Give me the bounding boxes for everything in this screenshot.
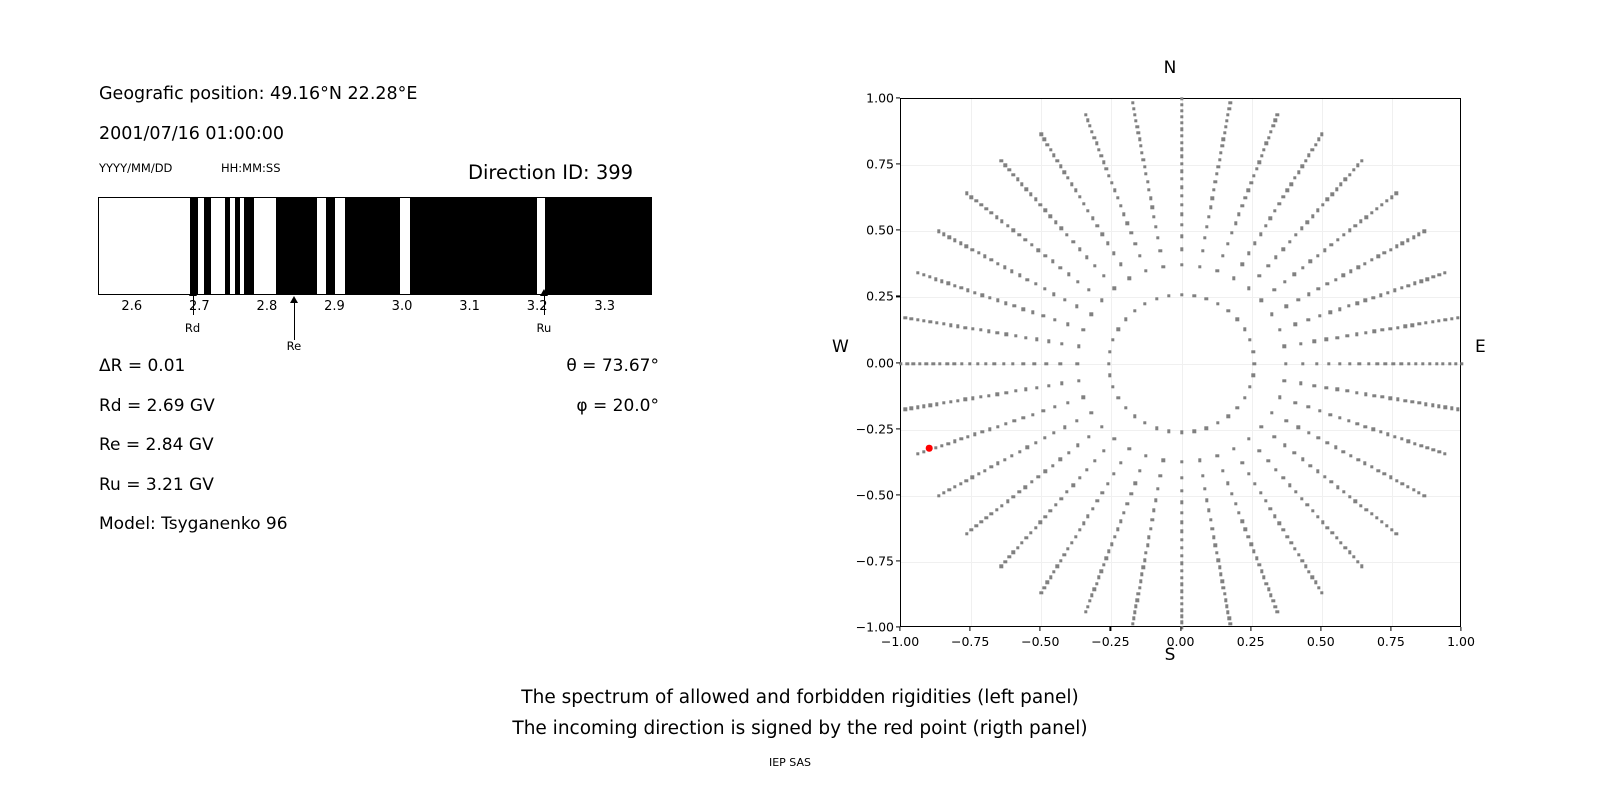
direction-point — [1180, 489, 1183, 492]
direction-point — [1334, 278, 1337, 281]
direction-point — [1297, 553, 1300, 556]
direction-point — [1003, 458, 1006, 461]
direction-point — [1356, 560, 1359, 563]
direction-point — [916, 271, 919, 274]
direction-point — [1301, 362, 1304, 365]
direction-point — [1180, 141, 1183, 144]
forbidden-band — [545, 198, 652, 294]
direction-point — [929, 404, 932, 407]
direction-point — [1078, 528, 1081, 531]
direction-point — [953, 485, 956, 488]
marker-label: Ru — [537, 321, 552, 335]
direction-point — [1269, 216, 1272, 219]
direction-point — [1347, 419, 1350, 422]
direction-point — [1230, 231, 1233, 234]
direction-point — [1107, 174, 1110, 177]
direction-point — [996, 331, 999, 334]
direction-point — [1241, 519, 1244, 522]
direction-point — [1180, 223, 1183, 226]
direction-point — [1314, 143, 1317, 146]
direction-point — [1389, 397, 1392, 400]
direction-point — [1352, 555, 1355, 558]
forbidden-band — [204, 198, 211, 294]
rigidity-spectrum-bar — [98, 197, 652, 295]
direction-point — [1110, 181, 1113, 184]
direction-point — [1423, 230, 1426, 233]
y-axis-tick-mark — [896, 494, 900, 495]
direction-point — [1037, 248, 1040, 251]
direction-point — [1293, 547, 1296, 550]
direction-point — [1407, 362, 1410, 365]
direction-point — [1003, 164, 1006, 167]
direction-point — [1052, 570, 1055, 573]
direction-point — [1281, 248, 1284, 251]
direction-point — [1144, 454, 1147, 457]
direction-point — [1012, 551, 1015, 554]
direction-point — [916, 452, 919, 455]
direction-point — [1180, 562, 1183, 565]
direction-point — [1067, 451, 1070, 454]
direction-point — [1180, 213, 1183, 216]
direction-point — [960, 286, 963, 289]
direction-point — [1209, 205, 1212, 208]
direction-point — [928, 275, 931, 278]
direction-point — [1309, 464, 1312, 467]
direction-point — [1376, 255, 1379, 258]
direction-point — [1119, 519, 1122, 522]
direction-point — [1274, 468, 1277, 471]
direction-point — [1400, 286, 1403, 289]
direction-point — [983, 255, 986, 258]
direction-point — [1383, 472, 1386, 475]
direction-point — [1078, 195, 1081, 198]
direction-point — [1325, 386, 1328, 389]
direction-point — [1432, 448, 1435, 451]
direction-point — [937, 230, 940, 233]
direction-point — [1390, 528, 1393, 531]
direction-point — [1116, 196, 1119, 199]
direction-point — [1354, 499, 1357, 502]
direction-point — [1065, 233, 1068, 236]
direction-point — [1102, 161, 1105, 164]
direction-point — [1255, 556, 1258, 559]
direction-point — [956, 325, 959, 328]
direction-point — [1267, 136, 1270, 139]
direction-point — [1137, 131, 1140, 134]
direction-point — [1155, 426, 1158, 429]
direction-point — [1232, 277, 1235, 280]
direction-point — [1113, 437, 1116, 440]
direction-point — [1180, 476, 1183, 479]
direction-point — [1363, 262, 1366, 265]
direction-point — [1217, 559, 1220, 562]
direction-point — [1010, 454, 1013, 457]
direction-point — [1211, 197, 1214, 200]
direction-point — [1217, 165, 1220, 168]
rigidity-tick-label: 2.6 — [121, 299, 142, 314]
direction-point — [973, 433, 976, 436]
direction-point — [1003, 266, 1006, 269]
direction-point — [971, 397, 974, 400]
direction-point — [1286, 189, 1289, 192]
direction-point — [932, 362, 935, 365]
direction-point — [1348, 362, 1351, 365]
direction-point — [946, 442, 949, 445]
direction-point — [1288, 483, 1291, 486]
direction-point — [1348, 495, 1351, 498]
direction-point — [1311, 509, 1314, 512]
direction-point — [1229, 101, 1232, 104]
direction-point — [1250, 543, 1253, 546]
direction-point — [1203, 236, 1206, 239]
direction-point — [970, 196, 973, 199]
direction-point — [973, 291, 976, 294]
direction-point — [1380, 520, 1383, 523]
direction-point — [1138, 138, 1141, 141]
direction-point — [1385, 199, 1388, 202]
direction-point — [1004, 301, 1007, 304]
direction-point — [1267, 588, 1270, 591]
direction-point — [1299, 382, 1302, 385]
direction-point — [1307, 318, 1310, 321]
param-phi: φ = 20.0° — [576, 396, 659, 416]
direction-point — [1180, 121, 1183, 124]
direction-point — [1247, 437, 1250, 440]
direction-point — [1022, 362, 1025, 365]
direction-point — [1005, 391, 1008, 394]
direction-point — [1152, 509, 1155, 512]
direction-point — [1034, 441, 1037, 444]
direction-point — [912, 362, 915, 365]
direction-point — [1356, 266, 1359, 269]
direction-point — [1066, 323, 1069, 326]
direction-point — [984, 362, 987, 365]
direction-point — [999, 564, 1002, 567]
direction-point — [1180, 169, 1183, 172]
direction-point — [1294, 401, 1297, 404]
direction-point — [963, 398, 966, 401]
direction-point — [1300, 227, 1303, 230]
direction-point — [1460, 362, 1463, 365]
direction-point — [1290, 541, 1293, 544]
direction-point — [1301, 559, 1304, 562]
direction-point — [1082, 395, 1085, 398]
direction-point — [1129, 492, 1132, 495]
compass-north-label: N — [1164, 58, 1177, 78]
direction-point — [1054, 220, 1057, 223]
direction-point — [1443, 271, 1446, 274]
direction-point — [1309, 260, 1312, 263]
direction-point — [1162, 459, 1165, 462]
forbidden-band — [276, 198, 317, 294]
param-model: Model: Tsyganenko 96 — [99, 514, 288, 534]
direction-point — [1209, 518, 1212, 521]
direction-point — [1370, 465, 1373, 468]
direction-point — [1293, 451, 1296, 454]
direction-point — [1223, 131, 1226, 134]
direction-point — [1247, 535, 1250, 538]
direction-point — [1396, 398, 1399, 401]
gridline-horizontal — [901, 231, 1460, 232]
direction-point — [1198, 265, 1201, 268]
direction-point — [1257, 563, 1260, 566]
direction-point — [1014, 389, 1017, 392]
direction-point — [1431, 404, 1434, 407]
direction-point — [1052, 292, 1055, 295]
direction-point — [1066, 401, 1069, 404]
direction-point — [1060, 227, 1063, 230]
direction-point — [1401, 482, 1404, 485]
direction-point — [1180, 615, 1183, 618]
direction-point — [904, 316, 907, 319]
direction-point — [971, 476, 974, 479]
direction-point — [1260, 425, 1263, 428]
direction-point — [1147, 188, 1150, 191]
direction-point — [971, 327, 974, 330]
direction-point — [1336, 485, 1339, 488]
direction-point — [984, 516, 987, 519]
direction-point — [1133, 113, 1136, 116]
direction-point — [1138, 469, 1141, 472]
direction-point — [1307, 570, 1310, 573]
direction-point — [1224, 599, 1227, 602]
direction-point — [1227, 107, 1230, 110]
direction-point — [996, 392, 999, 395]
direction-point — [1180, 530, 1183, 533]
direction-point — [1384, 362, 1387, 365]
direction-point — [1010, 270, 1013, 273]
direction-point — [1004, 422, 1007, 425]
rigidity-tick-label: 2.8 — [257, 299, 278, 314]
direction-point — [1293, 273, 1296, 276]
direction-point — [1192, 294, 1195, 297]
direction-point — [1253, 362, 1256, 365]
direction-point — [910, 407, 913, 410]
direction-point — [1180, 583, 1183, 586]
direction-point — [904, 408, 907, 411]
direction-point — [1143, 302, 1146, 305]
direction-point — [1274, 255, 1277, 258]
direction-point — [1102, 274, 1105, 277]
direction-point — [977, 251, 980, 254]
x-axis-tick-mark — [1320, 627, 1321, 631]
direction-point — [1041, 314, 1044, 317]
direction-point — [1346, 334, 1349, 337]
direction-point — [1338, 307, 1341, 310]
forbidden-band — [190, 198, 198, 294]
direction-point — [1159, 474, 1162, 477]
direction-point — [1043, 138, 1046, 141]
y-axis-tick-mark — [896, 560, 900, 561]
direction-point — [1059, 458, 1062, 461]
direction-point — [1371, 296, 1374, 299]
direction-point — [990, 258, 993, 261]
direction-point — [1370, 211, 1373, 214]
direction-point — [1086, 119, 1089, 122]
direction-point — [1224, 125, 1227, 128]
direction-point — [1180, 596, 1183, 599]
direction-point — [1294, 323, 1297, 326]
direction-point — [1132, 107, 1135, 110]
direction-point — [1180, 576, 1183, 579]
direction-point — [1232, 447, 1235, 450]
direction-point — [1219, 573, 1222, 576]
direction-point — [942, 322, 945, 325]
direction-point — [1236, 318, 1239, 321]
direction-point — [1151, 205, 1154, 208]
direction-point — [1076, 444, 1079, 447]
direction-point — [1313, 340, 1316, 343]
direction-point — [987, 394, 990, 397]
direction-point — [1414, 362, 1417, 365]
direction-point — [1117, 327, 1120, 330]
direction-point — [1379, 293, 1382, 296]
direction-point — [949, 400, 952, 403]
direction-point — [966, 435, 969, 438]
direction-point — [1306, 503, 1309, 506]
direction-point — [1180, 203, 1183, 206]
direction-point — [1283, 345, 1286, 348]
direction-point — [1297, 170, 1300, 173]
direction-point — [953, 362, 956, 365]
direction-point — [1424, 321, 1427, 324]
direction-point — [1100, 154, 1103, 157]
x-axis-tick-label: −0.75 — [951, 634, 989, 649]
direction-point — [1093, 136, 1096, 139]
direction-point — [1088, 599, 1091, 602]
direction-point — [1051, 464, 1054, 467]
direction-point — [940, 280, 943, 283]
param-theta: θ = 73.67° — [566, 356, 659, 376]
direction-point — [1376, 469, 1379, 472]
direction-point — [1024, 388, 1027, 391]
direction-point — [1205, 498, 1208, 501]
direction-point — [1421, 362, 1424, 365]
direction-point — [1089, 313, 1092, 316]
direction-point — [1370, 258, 1373, 261]
direction-point — [1306, 220, 1309, 223]
direction-point — [1356, 301, 1359, 304]
direction-point — [1383, 251, 1386, 254]
direction-point — [1304, 159, 1307, 162]
direction-point — [1040, 591, 1043, 594]
direction-point — [1328, 413, 1331, 416]
direction-point — [953, 284, 956, 287]
rigidity-tick-label: 3.1 — [459, 299, 480, 314]
marker-label: Rd — [185, 321, 200, 335]
direction-point — [1040, 133, 1043, 136]
direction-point — [1124, 318, 1127, 321]
y-axis-tick-label: −0.50 — [856, 487, 894, 502]
direction-point — [1348, 173, 1351, 176]
direction-point — [1240, 263, 1243, 266]
direction-point — [1049, 509, 1052, 512]
direction-point — [1359, 504, 1362, 507]
direction-point — [1335, 187, 1338, 190]
direction-point — [1403, 325, 1406, 328]
direction-point — [1033, 362, 1036, 365]
y-axis-tick-label: 0.25 — [866, 289, 894, 304]
direction-point — [1059, 165, 1062, 168]
direction-point — [1218, 566, 1221, 569]
direction-point — [1417, 232, 1420, 235]
direction-point — [1450, 317, 1453, 320]
direction-point — [1049, 575, 1052, 578]
direction-point — [1140, 573, 1143, 576]
direction-point — [1034, 198, 1037, 201]
direction-point — [1180, 431, 1183, 434]
direction-point — [1102, 449, 1105, 452]
direction-point — [1060, 382, 1063, 385]
direction-point — [1045, 362, 1048, 365]
direction-point — [1318, 314, 1321, 317]
direction-point — [1320, 591, 1323, 594]
direction-point — [1087, 435, 1090, 438]
direction-point — [1454, 362, 1457, 365]
param-ru: Ru = 3.21 GV — [99, 475, 214, 495]
direction-point — [1060, 497, 1063, 500]
direction-point — [1008, 168, 1011, 171]
direction-point — [1244, 196, 1247, 199]
direction-point — [979, 328, 982, 331]
direction-point — [1258, 274, 1261, 277]
direction-point — [1215, 551, 1218, 554]
direction-point — [1269, 507, 1272, 510]
direction-point — [979, 395, 982, 398]
direction-point — [1276, 610, 1279, 613]
direction-point — [1203, 487, 1206, 490]
direction-point — [959, 482, 962, 485]
direction-point — [916, 406, 919, 409]
direction-point — [1326, 441, 1329, 444]
direction-point — [1301, 165, 1304, 168]
caption-line-1: The spectrum of allowed and forbidden ri… — [521, 687, 1078, 708]
direction-point — [1248, 338, 1251, 341]
direction-point — [1426, 446, 1429, 449]
direction-point — [1317, 138, 1320, 141]
direction-point — [1393, 289, 1396, 292]
rigidity-tick-label: 2.9 — [324, 299, 345, 314]
direction-point — [1336, 388, 1339, 391]
direction-point — [1358, 362, 1361, 365]
direction-point — [1247, 472, 1250, 475]
direction-point — [1326, 526, 1329, 529]
direction-point — [1078, 476, 1081, 479]
y-axis-tick-label: −1.00 — [856, 620, 894, 635]
direction-point — [1077, 379, 1080, 382]
direction-point — [1085, 255, 1088, 258]
direction-point — [946, 282, 949, 285]
direction-point — [1146, 544, 1149, 547]
direction-point — [1386, 433, 1389, 436]
direction-point — [1273, 435, 1276, 438]
direction-point — [1053, 318, 1056, 321]
direction-point — [999, 159, 1002, 162]
direction-point — [1212, 188, 1215, 191]
direction-point — [1365, 508, 1368, 511]
direction-point — [1315, 362, 1318, 365]
direction-point — [1096, 224, 1099, 227]
direction-point — [1432, 275, 1435, 278]
x-axis-tick-mark — [1110, 627, 1111, 631]
direction-point — [1142, 566, 1145, 569]
direction-point — [1060, 342, 1063, 345]
direction-point — [1018, 450, 1021, 453]
direction-point — [1100, 569, 1103, 572]
direction-point — [1247, 252, 1250, 255]
direction-point — [1017, 490, 1020, 493]
direction-point — [1274, 119, 1277, 122]
